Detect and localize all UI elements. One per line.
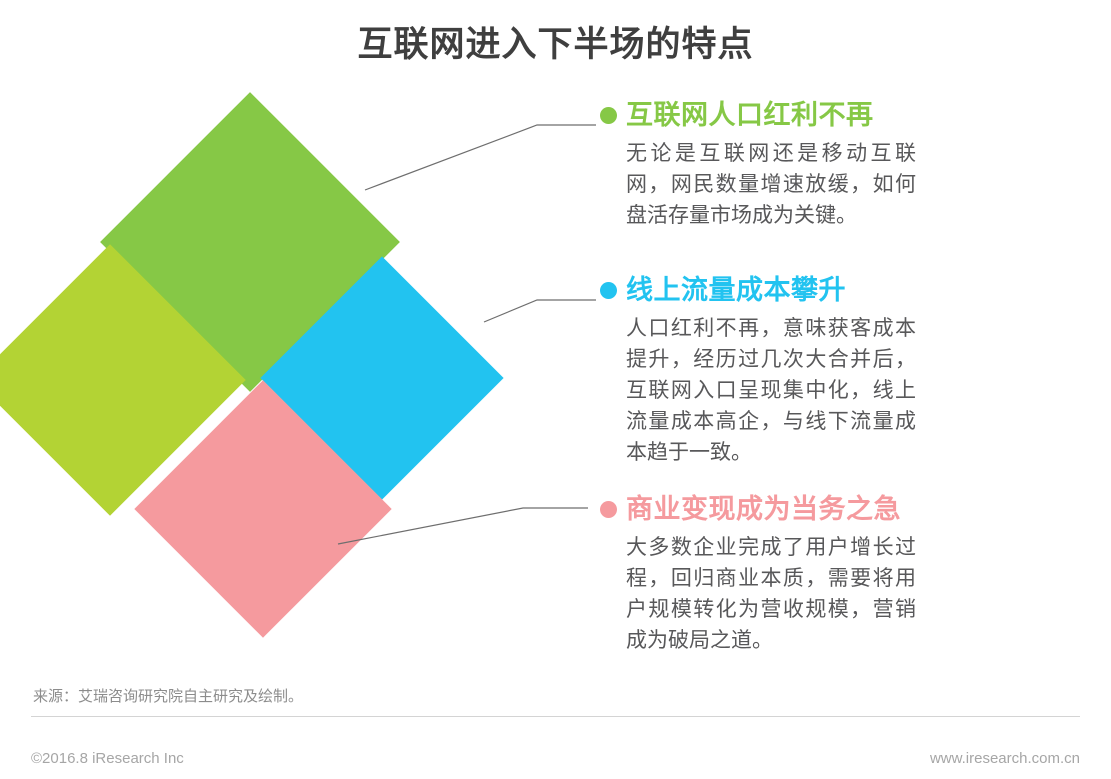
website-url: www.iresearch.com.cn	[930, 750, 1080, 767]
source-note: 来源：艾瑞咨询研究院自主研究及绘制。	[33, 685, 303, 706]
point-heading-row-2: 线上流量成本攀升	[600, 275, 1020, 306]
point-heading-2: 线上流量成本攀升	[626, 275, 846, 306]
footer-divider	[31, 716, 1080, 717]
point-body-2: 人口红利不再，意味获客成本提升，经历过几次大合并后，互联网入口呈现集中化，线上流…	[626, 313, 916, 468]
bullet-dot-icon-2	[600, 282, 617, 299]
point-body-1: 无论是互联网还是移动互联网，网民数量增速放缓，如何盘活存量市场成为关键。	[626, 138, 916, 231]
diamond-diagram	[0, 88, 600, 608]
bullet-dot-icon-3	[600, 501, 617, 518]
point-heading-1: 互联网人口红利不再	[626, 100, 874, 131]
point-heading-row-1: 互联网人口红利不再	[600, 100, 1020, 131]
point-block-1: 互联网人口红利不再 无论是互联网还是移动互联网，网民数量增速放缓，如何盘活存量市…	[600, 100, 1020, 231]
point-body-3: 大多数企业完成了用户增长过程，回归商业本质，需要将用户规模转化为营收规模，营销成…	[626, 532, 916, 656]
bullet-dot-icon-1	[600, 107, 617, 124]
point-heading-row-3: 商业变现成为当务之急	[600, 494, 1020, 525]
page-title: 互联网进入下半场的特点	[0, 16, 1111, 67]
slide-root: 互联网进入下半场的特点 互联网人口红利不再 无论是互联网还是移动互联网，网民数量…	[0, 0, 1111, 779]
point-block-2: 线上流量成本攀升 人口红利不再，意味获客成本提升，经历过几次大合并后，互联网入口…	[600, 275, 1020, 468]
point-block-3: 商业变现成为当务之急 大多数企业完成了用户增长过程，回归商业本质，需要将用户规模…	[600, 494, 1020, 656]
point-heading-3: 商业变现成为当务之急	[626, 494, 901, 525]
copyright-text: ©2016.8 iResearch Inc	[31, 750, 184, 767]
